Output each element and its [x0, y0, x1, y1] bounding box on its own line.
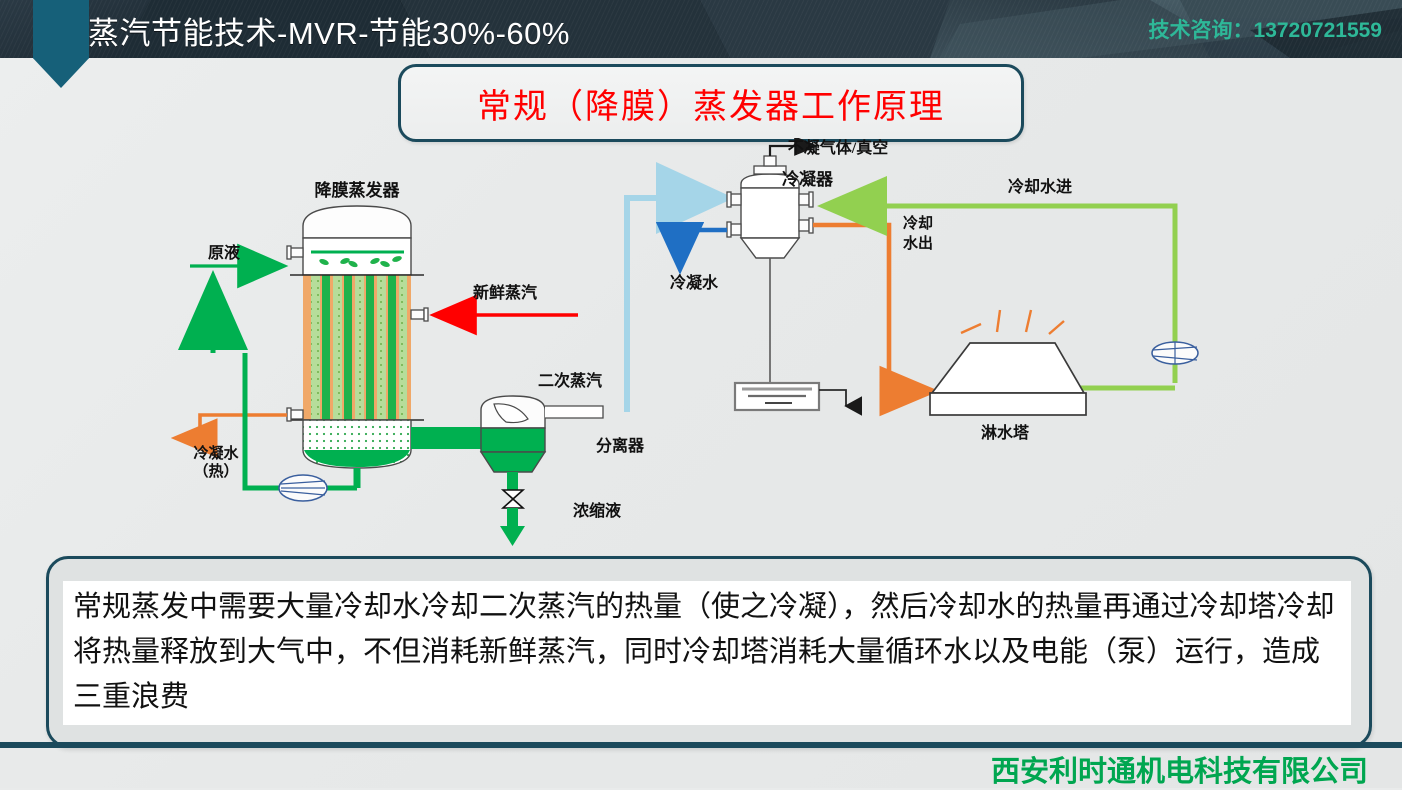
company-name: 西安利时通机电科技有限公司 [991, 748, 1368, 790]
falling-film-evaporator: 降膜蒸发器 [287, 180, 428, 468]
separator-label: 分离器 [596, 436, 645, 455]
cooling-water-out-label-2: 水出 [903, 234, 933, 252]
cooling-tower: 淋水塔 [930, 310, 1086, 442]
valve-icon [503, 490, 523, 508]
explanation-callout: 常规蒸发中需要大量冷却水冷却二次蒸汽的热量（使之冷凝），然后冷却水的热量再通过冷… [46, 556, 1372, 748]
noncondensable-gas-line: 不凝气体/真空 [770, 138, 888, 157]
noncondensable-label: 不凝气体/真空 [788, 138, 888, 157]
slide-canvas: 蒸汽节能技术-MVR-节能30%-60% 技术咨询：13720721559 常规… [0, 0, 1402, 788]
cooling-pump-icon [1152, 342, 1198, 364]
chevron-accent [33, 0, 89, 88]
diagram-title-box: 常规（降膜）蒸发器工作原理 [398, 64, 1024, 142]
condenser-vessel: 冷凝器 [727, 156, 834, 383]
slide-header: 蒸汽节能技术-MVR-节能30%-60% 技术咨询：13720721559 [0, 0, 1402, 58]
diagram-title-text: 常规（降膜）蒸发器工作原理 [477, 79, 945, 128]
condensate-out-line: 冷凝水 [670, 230, 727, 292]
hot-condensate-label-1: 冷凝水 [193, 444, 239, 462]
fresh-steam-label: 新鲜蒸汽 [473, 283, 537, 302]
contact-info: 技术咨询：13720721559 [1149, 14, 1382, 44]
hot-condensate-label-2: （热） [193, 462, 238, 480]
separator-vessel: 分离器 浓缩液 [411, 396, 645, 546]
pump-icon [279, 475, 327, 501]
evaporator-label: 降膜蒸发器 [315, 180, 401, 200]
feed-label: 原液 [208, 243, 241, 262]
condenser-label: 冷凝器 [782, 169, 834, 189]
explanation-text-box: 常规蒸发中需要大量冷却水冷却二次蒸汽的热量（使之冷凝），然后冷却水的热量再通过冷… [63, 581, 1351, 725]
explanation-text: 常规蒸发中需要大量冷却水冷却二次蒸汽的热量（使之冷凝），然后冷却水的热量再通过冷… [73, 585, 1341, 720]
tower-heat-rays [961, 310, 1064, 334]
concentrate-label: 浓缩液 [573, 501, 622, 520]
process-flow-diagram: 降膜蒸发器 原液 新鲜蒸汽 冷凝水 （热） [0, 138, 1402, 550]
page-title: 蒸汽节能技术-MVR-节能30%-60% [88, 8, 570, 53]
cooling-water-out-label-1: 冷却 [903, 214, 933, 232]
fresh-steam-line: 新鲜蒸汽 [436, 283, 578, 315]
secondary-steam-label: 二次蒸汽 [538, 371, 602, 390]
cooling-water-in-label: 冷却水进 [1008, 177, 1072, 196]
condensate-tank [735, 383, 846, 410]
condensate-label: 冷凝水 [670, 273, 719, 292]
cooling-water-out-line: 冷却 水出 [813, 214, 933, 391]
feed-line: 原液 [190, 243, 282, 353]
hot-condensate-line: 冷凝水 （热） [178, 415, 287, 480]
cooling-tower-label: 淋水塔 [981, 423, 1030, 442]
